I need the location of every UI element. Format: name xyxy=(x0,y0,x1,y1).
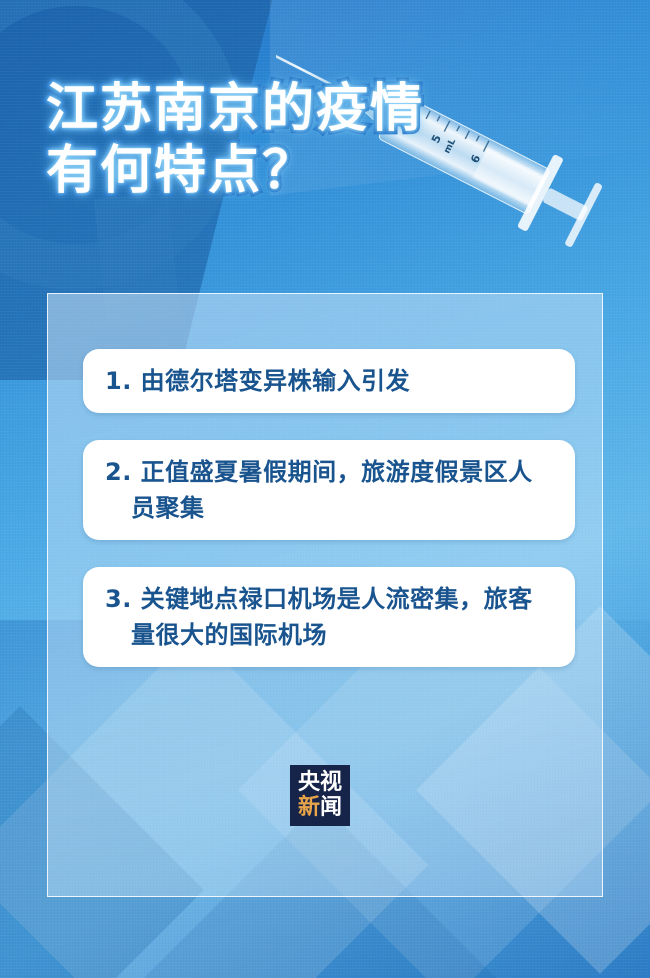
logo-line-yangshi: 央视 xyxy=(298,772,342,794)
points-list: 1. 由德尔塔变异株输入引发 2. 正值盛夏暑假期间，旅游度假景区人员聚集 3.… xyxy=(83,349,575,667)
title-line-2: 有何特点？ xyxy=(46,140,424,202)
syringe-scale-label-5: 5 xyxy=(429,133,444,146)
cctv-news-logo: 央视 新闻 xyxy=(290,765,350,826)
list-item-text: 3. 关键地点禄口机场是人流密集，旅客量很大的国际机场 xyxy=(105,581,555,653)
syringe-scale-label-6: 6 xyxy=(468,152,483,165)
logo-line-xinwen: 新闻 xyxy=(298,797,342,819)
syringe-scale-label-ml: mL xyxy=(442,137,458,155)
logo-glyph-xin: 新 xyxy=(298,797,320,819)
title-line-1: 江苏南京的疫情 xyxy=(46,78,424,140)
list-item: 2. 正值盛夏暑假期间，旅游度假景区人员聚集 xyxy=(83,440,575,540)
page-title: 江苏南京的疫情 有何特点？ xyxy=(46,78,424,202)
list-item-text: 1. 由德尔塔变异株输入引发 xyxy=(105,363,555,399)
logo-glyph-wen: 闻 xyxy=(320,797,342,819)
list-item: 3. 关键地点禄口机场是人流密集，旅客量很大的国际机场 xyxy=(83,567,575,667)
list-item-text: 2. 正值盛夏暑假期间，旅游度假景区人员聚集 xyxy=(105,454,555,526)
poster-root: 5 mL 6 江苏南京的疫情 有何特点？ 1. 由德尔塔变异株输入引发 2. 正… xyxy=(0,0,650,978)
list-item: 1. 由德尔塔变异株输入引发 xyxy=(83,349,575,413)
